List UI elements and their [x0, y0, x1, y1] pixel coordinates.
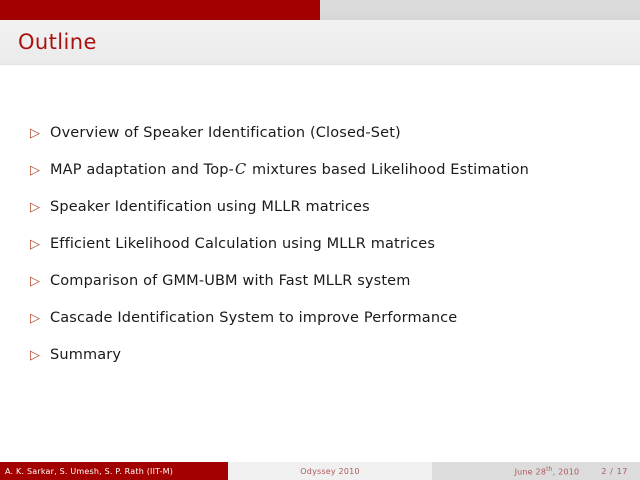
list-item-text-prefix: MAP adaptation and Top-	[50, 162, 234, 178]
list-item-label: MAP adaptation and Top-C mixtures based …	[50, 152, 529, 189]
list-item-label: Comparison of GMM-UBM with Fast MLLR sys…	[50, 263, 411, 300]
triangle-bullet-icon: ▷	[30, 337, 50, 374]
list-item: ▷ MAP adaptation and Top-C mixtures base…	[30, 152, 620, 189]
top-decoration-bar	[0, 0, 640, 20]
list-item-text-prefix: Comparison of GMM-UBM with Fast MLLR sys…	[50, 273, 411, 289]
footer-date-year: , 2010	[553, 467, 580, 476]
list-item: ▷ Summary	[30, 337, 620, 374]
triangle-bullet-icon: ▷	[30, 115, 50, 152]
page-title: Outline	[18, 28, 97, 56]
triangle-bullet-icon: ▷	[30, 300, 50, 337]
outline-list: ▷ Overview of Speaker Identification (Cl…	[30, 115, 620, 374]
list-item-text-suffix: mixtures based Likelihood Estimation	[247, 162, 529, 178]
footer-conference: Odyssey 2010	[228, 462, 432, 480]
list-item: ▷ Comparison of GMM-UBM with Fast MLLR s…	[30, 263, 620, 300]
slide-body: ▷ Overview of Speaker Identification (Cl…	[0, 65, 640, 457]
list-item-text-prefix: Summary	[50, 347, 121, 363]
list-item: ▷ Overview of Speaker Identification (Cl…	[30, 115, 620, 152]
list-item-label: Summary	[50, 337, 121, 374]
footer-date-main: June 28	[515, 467, 547, 476]
list-item-label: Cascade Identification System to improve…	[50, 300, 457, 337]
slide-footer: A. K. Sarkar, S. Umesh, S. P. Rath (IIT-…	[0, 462, 640, 480]
top-bar-red-segment	[0, 0, 320, 20]
math-symbol-c: C	[234, 162, 247, 178]
triangle-bullet-icon: ▷	[30, 263, 50, 300]
footer-date: June 28th, 2010	[515, 466, 580, 477]
footer-page-number: 2 / 17	[601, 467, 628, 476]
triangle-bullet-icon: ▷	[30, 152, 50, 189]
list-item-text-prefix: Cascade Identification System to improve…	[50, 310, 457, 326]
triangle-bullet-icon: ▷	[30, 226, 50, 263]
list-item-text-prefix: Overview of Speaker Identification (Clos…	[50, 125, 401, 141]
list-item-label: Efficient Likelihood Calculation using M…	[50, 226, 435, 263]
slide-root: Outline ▷ Overview of Speaker Identifica…	[0, 0, 640, 480]
list-item-text-prefix: Efficient Likelihood Calculation using M…	[50, 236, 435, 252]
list-item-text-prefix: Speaker Identification using MLLR matric…	[50, 199, 370, 215]
list-item: ▷ Speaker Identification using MLLR matr…	[30, 189, 620, 226]
footer-right-group: June 28th, 2010 2 / 17	[432, 462, 640, 480]
top-bar-gray-segment	[320, 0, 640, 20]
triangle-bullet-icon: ▷	[30, 189, 50, 226]
footer-authors: A. K. Sarkar, S. Umesh, S. P. Rath (IIT-…	[0, 462, 228, 480]
list-item-label: Overview of Speaker Identification (Clos…	[50, 115, 401, 152]
list-item-label: Speaker Identification using MLLR matric…	[50, 189, 370, 226]
list-item: ▷ Cascade Identification System to impro…	[30, 300, 620, 337]
list-item: ▷ Efficient Likelihood Calculation using…	[30, 226, 620, 263]
